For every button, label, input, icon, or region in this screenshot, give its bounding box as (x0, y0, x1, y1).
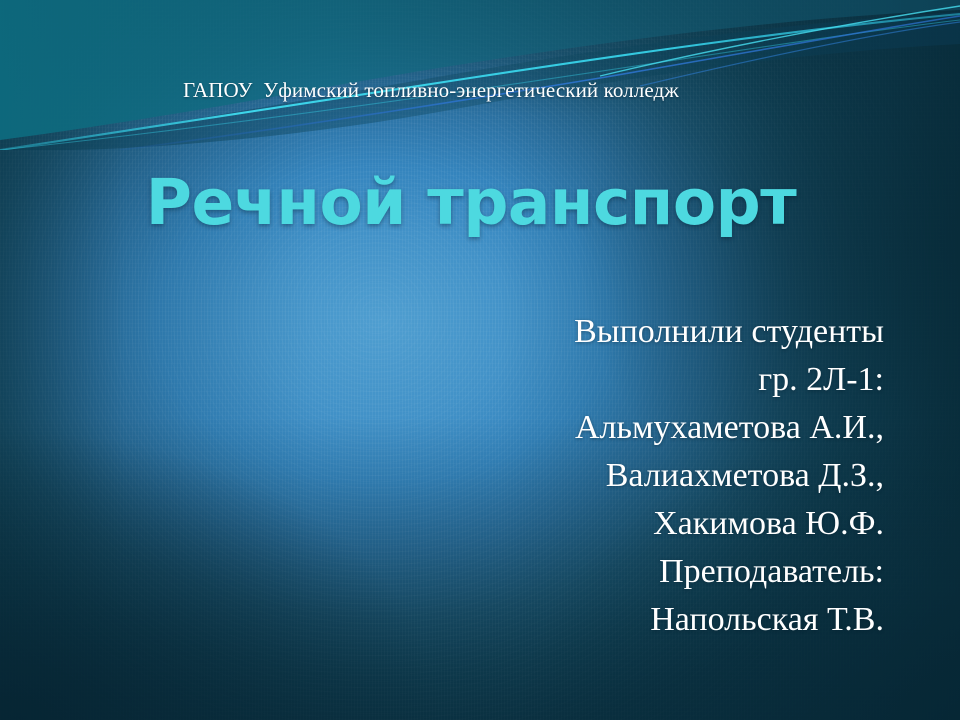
subtitle-line: Напольская Т.В. (264, 596, 884, 644)
subtitle-line: Альмухаметова А.И., (264, 404, 884, 452)
institution-header: ГАПОУ Уфимский топливно-энергетический к… (183, 78, 679, 103)
subtitle-line: Выполнили студенты (264, 308, 884, 356)
subtitle-line: гр. 2Л-1: (264, 356, 884, 404)
subtitle-line: Преподаватель: (264, 548, 884, 596)
decorative-wave-graphic (0, 0, 960, 150)
presentation-slide: ГАПОУ Уфимский топливно-энергетический к… (0, 0, 960, 720)
subtitle-line: Валиахметова Д.З., (264, 452, 884, 500)
page-title: Речной транспорт (60, 166, 882, 240)
subtitle-block: Выполнили студенты гр. 2Л-1: Альмухамето… (264, 308, 884, 644)
subtitle-line: Хакимова Ю.Ф. (264, 500, 884, 548)
